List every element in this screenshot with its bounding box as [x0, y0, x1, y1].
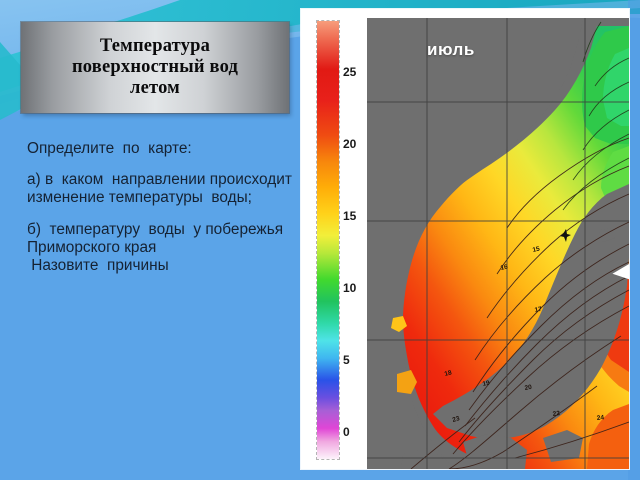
contour-label: 24: [596, 414, 604, 422]
colorbar-tick-0: 0: [343, 425, 350, 439]
contour-label: 22: [552, 410, 561, 418]
page-title: Температураповерхностный водлетом: [30, 36, 280, 99]
colorbar-area: 25 20 15 10 5 0: [301, 9, 367, 469]
question-item-a: а) в каком направлении происходит измене…: [27, 171, 299, 207]
slide-canvas: Температураповерхностный водлетом Опреде…: [0, 0, 640, 480]
temperature-colorbar: [317, 21, 339, 459]
colorbar-tick-15: 15: [343, 209, 356, 223]
question-item-b-tail: Назовите причины: [27, 257, 299, 275]
colorbar-tick-25: 25: [343, 65, 356, 79]
spacer: [27, 208, 299, 221]
question-intro: Определите по карте:: [27, 140, 299, 158]
colorbar-tick-5: 5: [343, 353, 350, 367]
colorbar-tick-20: 20: [343, 137, 356, 151]
question-item-b: б) температуру воды у побережья Приморск…: [27, 221, 299, 257]
colorbar-tick-10: 10: [343, 281, 356, 295]
sst-map-plot: 16 17 18 19 20 22 23 24 15: [367, 18, 629, 469]
spacer: [27, 158, 299, 171]
map-figure-panel: 25 20 15 10 5 0: [301, 9, 629, 469]
question-block: Определите по карте: а) в каком направле…: [27, 140, 299, 275]
title-plaque: Температураповерхностный водлетом: [21, 22, 289, 113]
